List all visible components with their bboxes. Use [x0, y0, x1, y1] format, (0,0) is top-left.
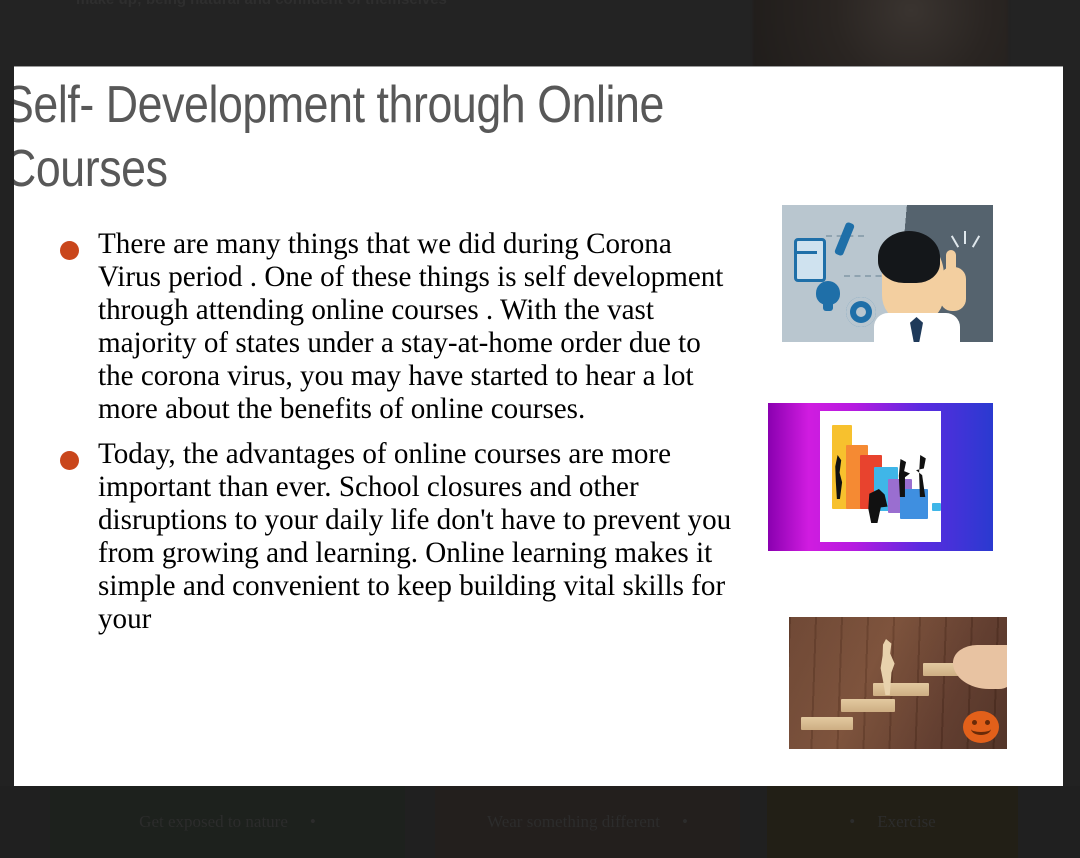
bullet-dot-icon: [60, 241, 79, 260]
list-item: There are many things that we did during…: [60, 227, 760, 425]
list-item: Today, the advantages of online courses …: [60, 437, 760, 635]
strip-card-bullet-icon: •: [849, 812, 855, 832]
pointing-finger: [946, 250, 956, 276]
step-block-3: [873, 683, 929, 696]
block-small-blue: [932, 503, 941, 511]
previous-slide-photo: [753, 0, 1008, 68]
strip-card-label: Exercise: [877, 812, 936, 832]
strip-card-exercise[interactable]: • Exercise: [767, 786, 1018, 858]
strip-card-bullet-icon: •: [310, 812, 316, 832]
strip-card-bullet-icon: •: [682, 812, 688, 832]
lightbulb-icon: [816, 281, 840, 305]
strip-card-nature[interactable]: Get exposed to nature •: [50, 786, 405, 858]
smiley-mouth: [971, 723, 991, 735]
pencil-icon: [834, 222, 855, 257]
step-block-1: [801, 717, 853, 730]
strip-card-clothing[interactable]: Wear something different •: [435, 786, 740, 858]
next-slide-preview[interactable]: Get exposed to nature • Wear something d…: [0, 786, 1080, 858]
idea-spark: [951, 235, 959, 247]
lightbulb-base: [823, 303, 833, 311]
growth-blocks-graphic[interactable]: [768, 403, 993, 551]
idea-spark: [972, 235, 980, 247]
bullet-text: There are many things that we did during…: [98, 227, 740, 425]
gear-center: [856, 307, 866, 317]
previous-slide-text: make up; being natural and confident of …: [76, 0, 716, 8]
idea-spark: [964, 231, 966, 244]
page-title: Self- Development through Online Courses: [14, 73, 778, 201]
wooden-steps-photo[interactable]: [789, 617, 1007, 749]
strip-card-label: Wear something different: [487, 812, 660, 832]
bullet-text: Today, the advantages of online courses …: [98, 437, 740, 635]
slide-panel[interactable]: Self- Development through Online Courses…: [14, 66, 1063, 787]
previous-slide-preview[interactable]: make up; being natural and confident of …: [0, 0, 1080, 70]
online-learning-illustration[interactable]: [782, 205, 993, 342]
hand-placing-block: [953, 645, 1007, 689]
strip-card-label: Get exposed to nature: [139, 812, 288, 832]
bullet-dot-icon: [60, 451, 79, 470]
bullet-list: There are many things that we did during…: [60, 227, 760, 647]
smiley-face-icon: [963, 711, 999, 743]
tablet-icon: [794, 238, 826, 282]
person-hair: [878, 231, 940, 283]
tablet-screen-line: [797, 251, 817, 254]
step-block-2: [841, 699, 895, 712]
graphic-inner-panel: [820, 411, 941, 542]
slide-image-column: [764, 67, 1063, 786]
